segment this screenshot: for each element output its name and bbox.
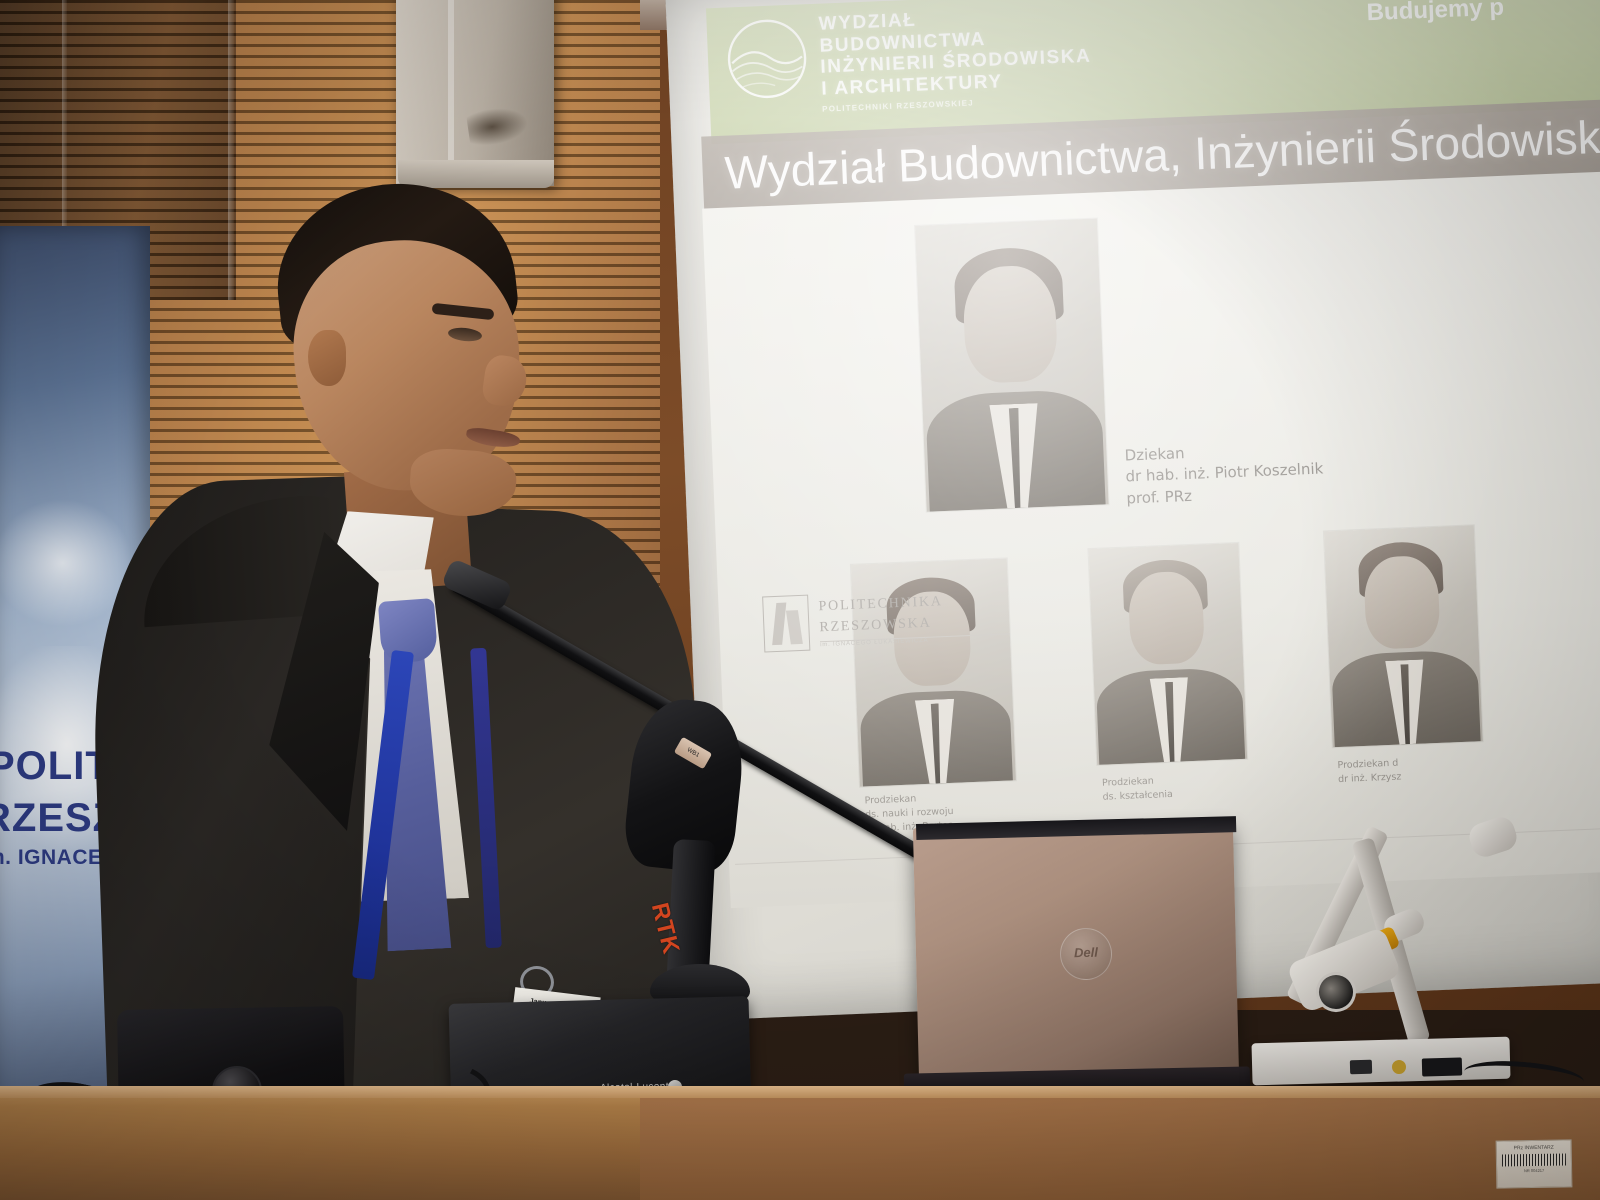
- sticker-bottom-text: NR 004217: [1497, 1167, 1571, 1173]
- faculty-logo-text: WYDZIAŁ BUDOWNICTWA INŻYNIERII ŚRODOWISK…: [818, 0, 1242, 113]
- inventory-sticker: PRz INWENTARZ NR 004217: [1496, 1139, 1573, 1188]
- usb-port: [1350, 1060, 1372, 1075]
- university-footer-logo: POLITECHNIKA RZESZOWSKA im. IGNACEGO ŁUK…: [762, 586, 1010, 652]
- dean-caption: Dziekan dr hab. inż. Piotr Koszelnik pro…: [1124, 437, 1324, 509]
- dell-logo-text: Dell: [1060, 928, 1111, 977]
- sticker-top-text: PRz INWENTARZ: [1497, 1144, 1571, 1151]
- faculty-logo-icon: [724, 16, 809, 101]
- cable-connector: [1422, 1057, 1462, 1076]
- wall-speaker-seam: [448, 0, 454, 186]
- vice-dean-area-3: dr inż. Krzysz: [1338, 770, 1402, 786]
- vice-dean-caption-2: Prodziekan ds. kształcenia: [1102, 774, 1173, 804]
- vice-dean-area-2: ds. kształcenia: [1102, 788, 1173, 805]
- nose: [481, 353, 530, 408]
- wall-speaker: [396, 0, 554, 186]
- dean-portrait: [915, 218, 1109, 511]
- desk-front-panel: [640, 1098, 1600, 1200]
- vice-dean-portrait-3: [1324, 525, 1483, 747]
- desk-edge: [0, 1086, 1600, 1098]
- speaker-person: Janusz MILLER Katedra Inżynierii Środowi…: [80, 180, 640, 1080]
- vice-dean-caption-3: Prodziekan d dr inż. Krzysz: [1337, 756, 1401, 786]
- photo-scene: WYDZIAŁ BUDOWNICTWA INŻYNIERII ŚRODOWISK…: [0, 0, 1600, 1200]
- dell-logo-icon: Dell: [1059, 927, 1112, 980]
- ear: [308, 330, 346, 386]
- politechnika-rzeszowska-logo-icon: [762, 595, 810, 653]
- barcode-icon: [1502, 1153, 1566, 1166]
- vice-dean-portrait-2: [1088, 543, 1247, 765]
